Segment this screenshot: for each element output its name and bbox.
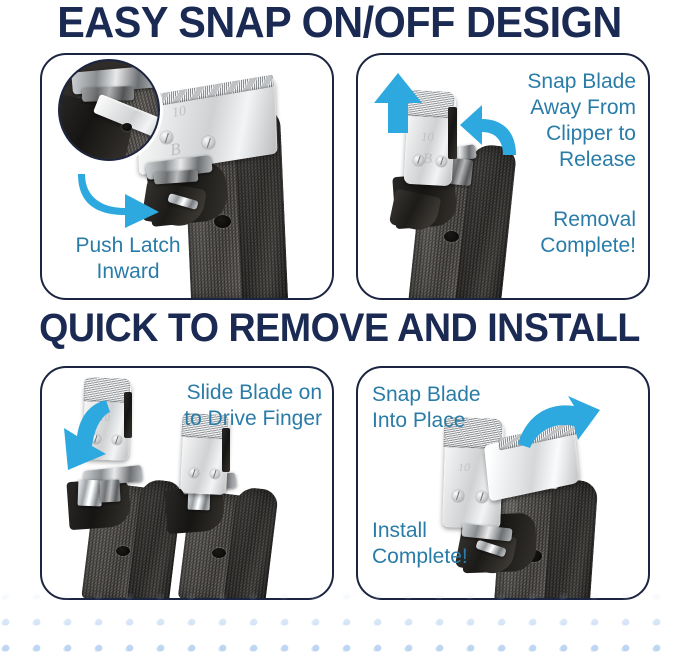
infographic-canvas: EASY SNAP ON/OFF DESIGN 10 B — [0, 0, 679, 662]
caption-push-latch: Push Latch Inward — [48, 233, 208, 285]
caption-removal-complete: Removal Complete! — [456, 207, 636, 259]
caption-snap-into-place: Snap Blade Into Place — [372, 382, 542, 434]
panel-slide-blade: 10 Slide Blade on to Drive Finger — [40, 366, 334, 600]
curved-arrow-right-icon — [75, 168, 163, 235]
straight-arrow-up-icon — [372, 73, 424, 140]
page-title-secondary: QUICK TO REMOVE AND INSTALL — [20, 306, 658, 350]
panel-push-latch: 10 B Push Latch Inward — [40, 53, 334, 300]
decorative-dot-pattern — [0, 590, 679, 662]
caption-snap-blade-away: Snap Blade Away From Clipper to Release — [456, 69, 636, 173]
panel-snap-into-place: 10 Snap Blade Into Place Install Complet… — [356, 366, 650, 600]
caption-slide-blade: Slide Blade on to Drive Finger — [122, 380, 322, 432]
latch-closeup-inset-image — [58, 59, 160, 161]
page-title-primary: EASY SNAP ON/OFF DESIGN — [20, 0, 658, 46]
curved-arrow-down-left-icon — [50, 398, 112, 481]
caption-install-complete: Install Complete! — [372, 518, 542, 570]
panel-snap-blade-away: 10 B Snap Blade Away From Clipper to Rel… — [356, 53, 650, 300]
